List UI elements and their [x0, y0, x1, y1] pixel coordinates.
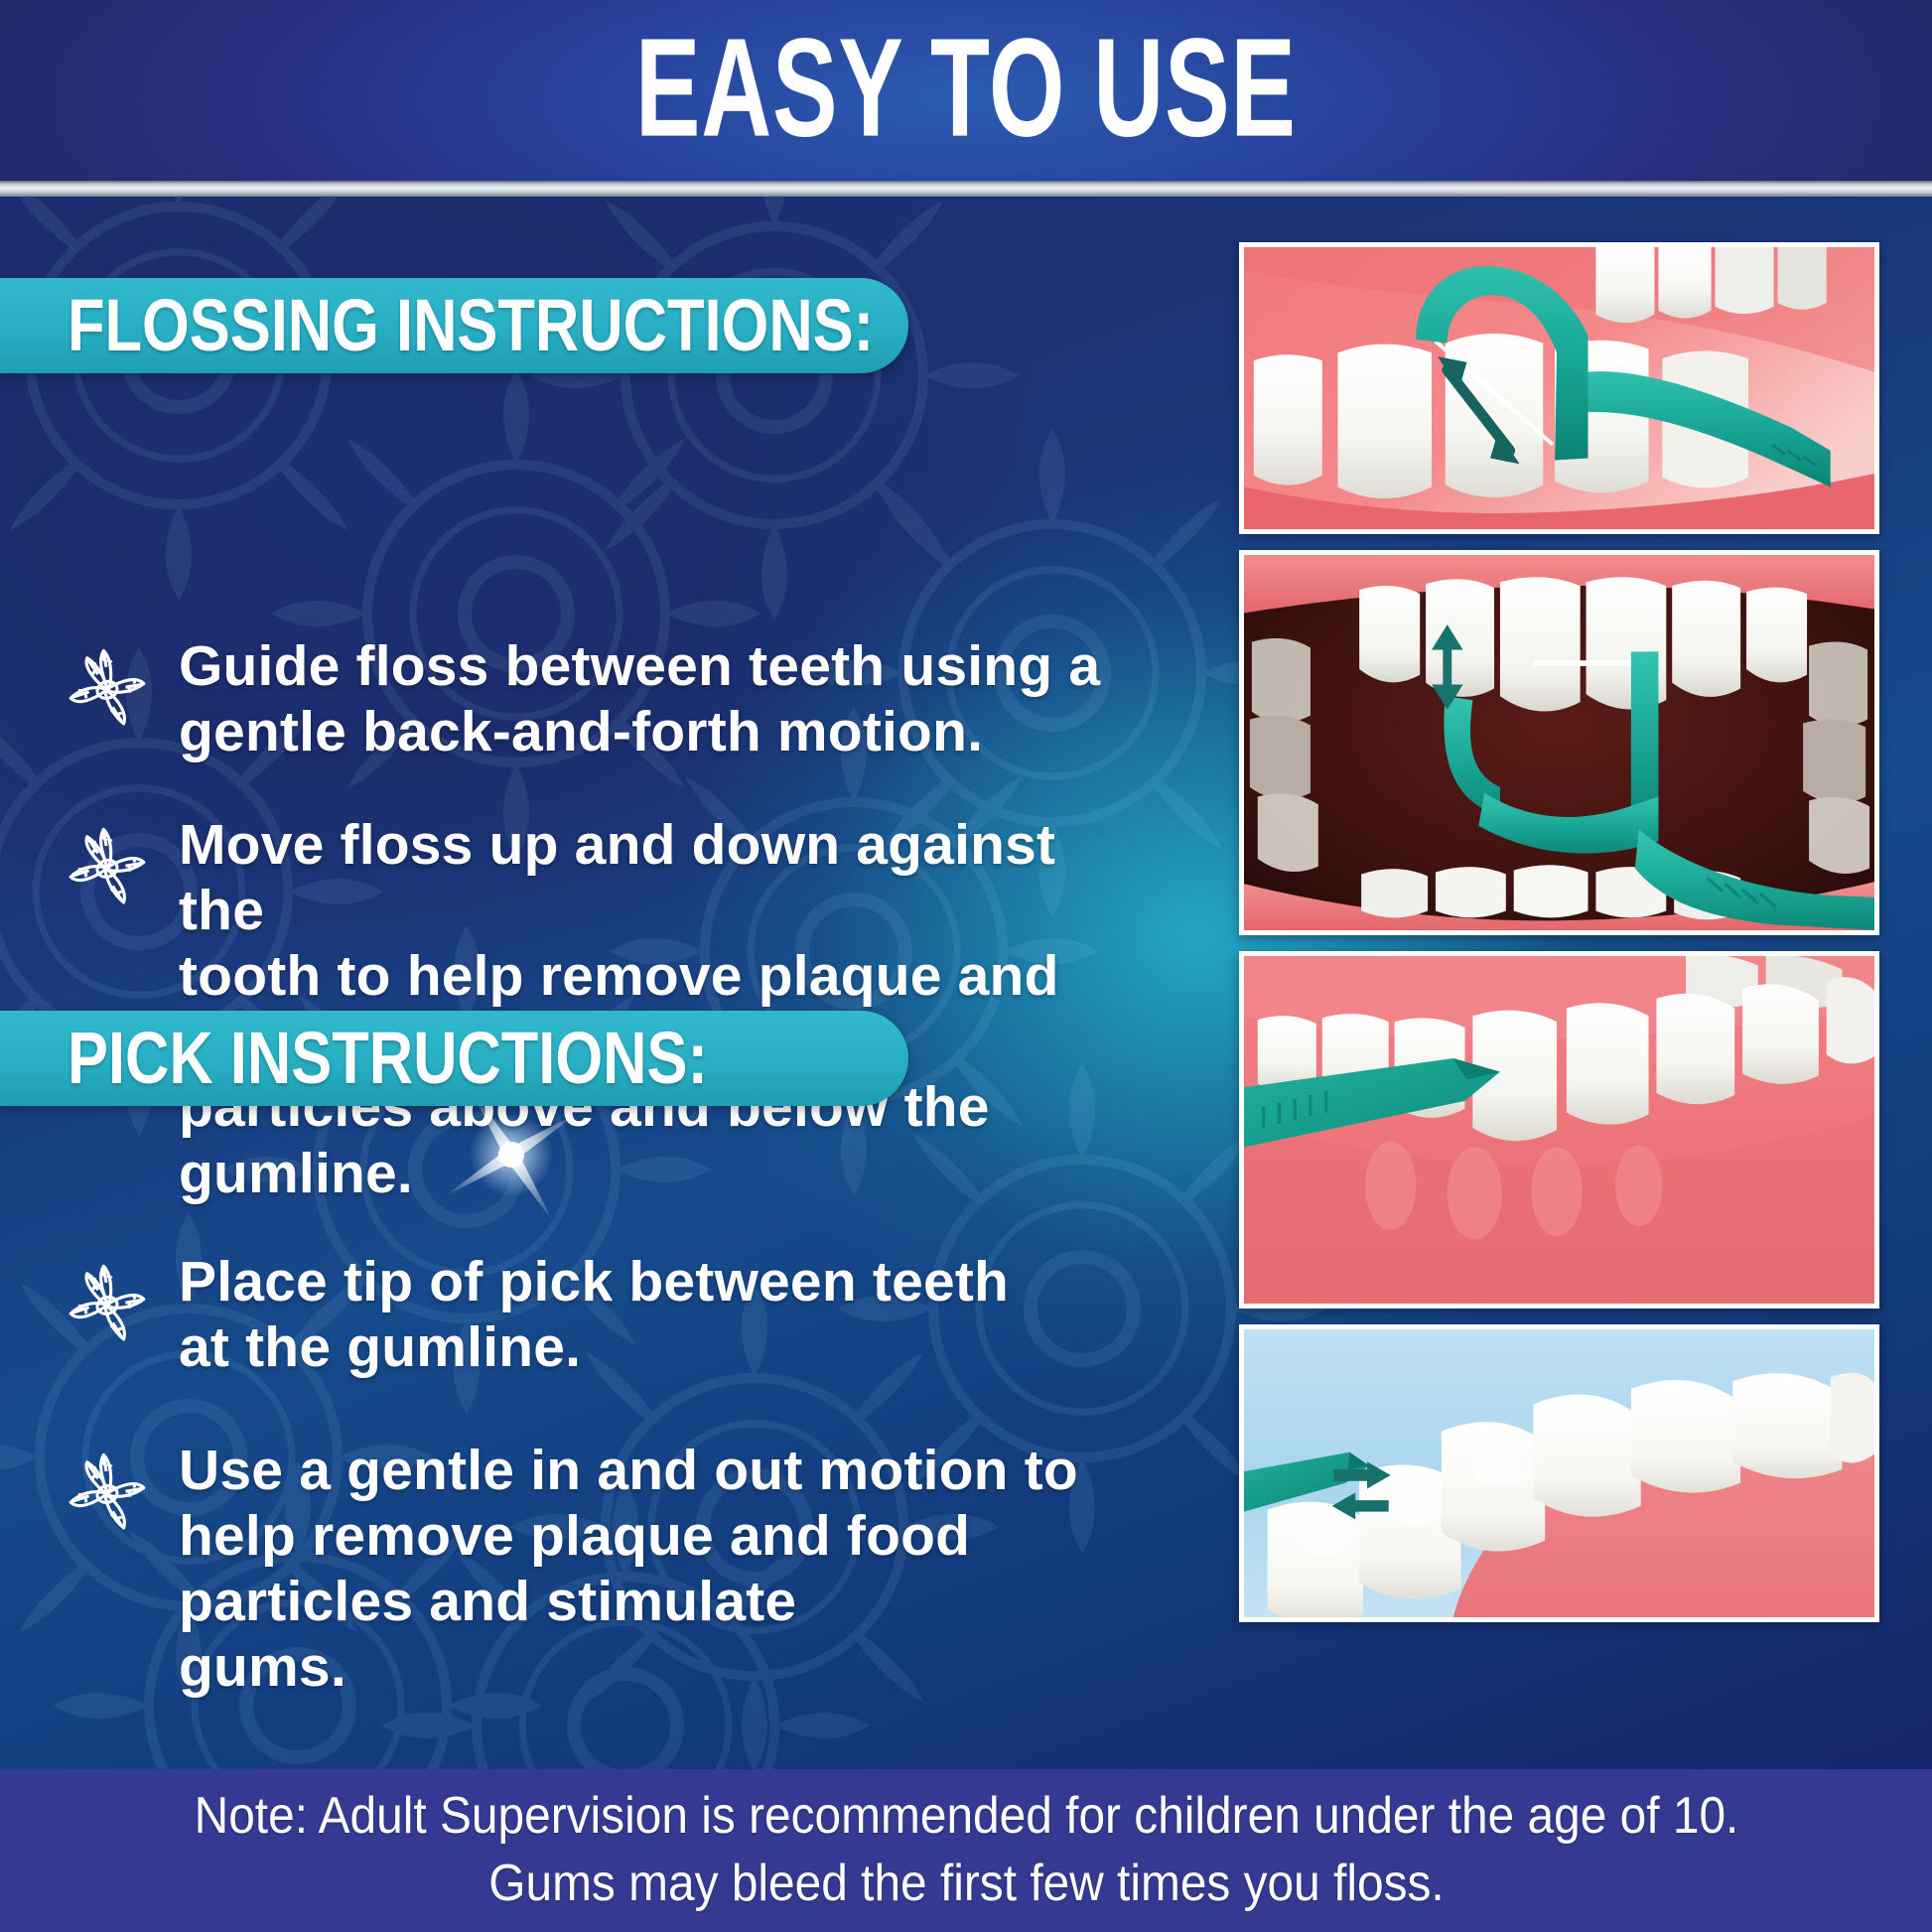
footer-note: Note: Adult Supervision is recommended f… [127, 1783, 1806, 1917]
illustration-panel-pick-in-out-motion [1239, 1324, 1879, 1622]
header-banner: EASY TO USE [0, 0, 1932, 181]
list-item: Place tip of pick between teeth at the g… [62, 1249, 1144, 1380]
page-title-text: EASY TO USE [635, 18, 1297, 158]
footer-note-band: Note: Adult Supervision is recommended f… [0, 1769, 1932, 1932]
section-banner-pick: PICK INSTRUCTIONS: [0, 1011, 908, 1106]
page-title: EASY TO USE [0, 25, 1932, 150]
list-item-text: Place tip of pick between teeth at the g… [179, 1249, 1009, 1380]
banner-label-flossing-text: FLOSSING INSTRUCTIONS: [68, 289, 874, 362]
mint-leaf-icon [62, 1446, 153, 1541]
mint-leaf-icon [62, 641, 153, 737]
list-item-text: Move floss up and down against the tooth… [179, 812, 1144, 1206]
mint-leaf-icon [62, 820, 153, 915]
metallic-divider [0, 181, 1932, 197]
illustration-panel-floss-front-teeth [1239, 550, 1879, 935]
banner-label-pick: PICK INSTRUCTIONS: [68, 1022, 839, 1095]
mint-leaf-icon [62, 1257, 153, 1352]
banner-label-flossing: FLOSSING INSTRUCTIONS: [68, 289, 1038, 362]
main-content: FLOSSING INSTRUCTIONS: Gu [0, 197, 1932, 1769]
footer-note-text: Note: Adult Supervision is recommended f… [194, 1783, 1738, 1917]
list-item: Use a gentle in and out motion to help r… [62, 1438, 1144, 1700]
list-item-text: Guide floss between teeth using a gentle… [179, 633, 1100, 764]
illustration-panel-pick-at-gumline [1239, 951, 1879, 1309]
section-banner-flossing: FLOSSING INSTRUCTIONS: [0, 278, 908, 373]
banner-label-pick-text: PICK INSTRUCTIONS: [68, 1022, 708, 1095]
list-item: Move floss up and down against the tooth… [62, 812, 1144, 1206]
illustration-panel-floss-between-teeth [1239, 242, 1879, 534]
list-item: Guide floss between teeth using a gentle… [62, 633, 1144, 764]
list-item-text: Use a gentle in and out motion to help r… [179, 1438, 1078, 1700]
infographic-poster: EASY TO USE [0, 0, 1932, 1932]
